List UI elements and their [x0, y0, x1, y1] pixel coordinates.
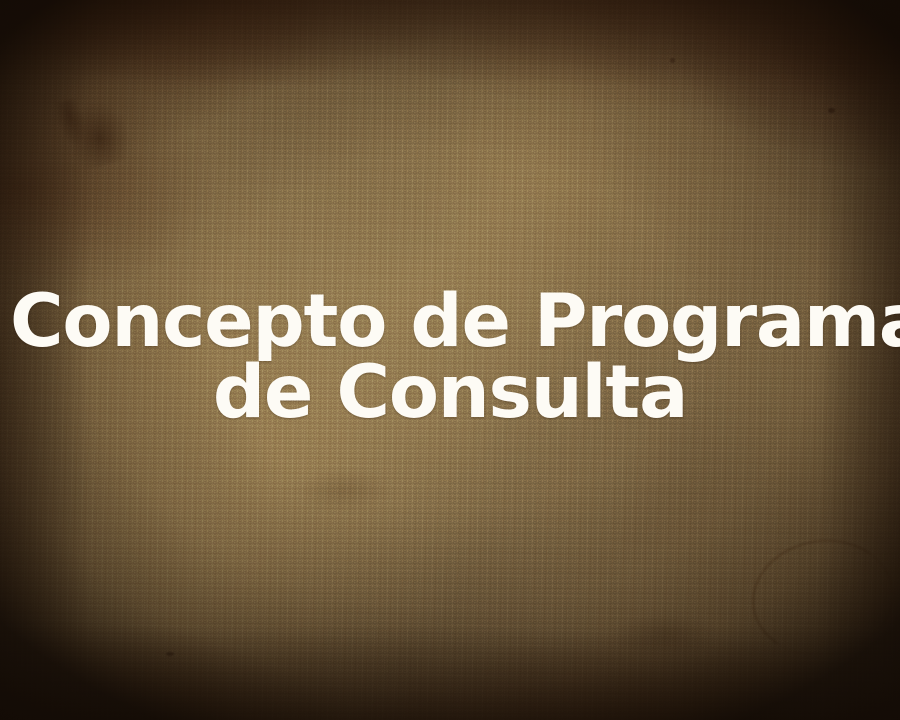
- page-title: Concepto de Programas de Consulta: [0, 286, 900, 428]
- page-title-line-2: de Consulta: [10, 357, 890, 428]
- title-slide: Concepto de Programas de Consulta: [0, 0, 900, 720]
- page-title-line-1: Concepto de Programas: [10, 286, 890, 357]
